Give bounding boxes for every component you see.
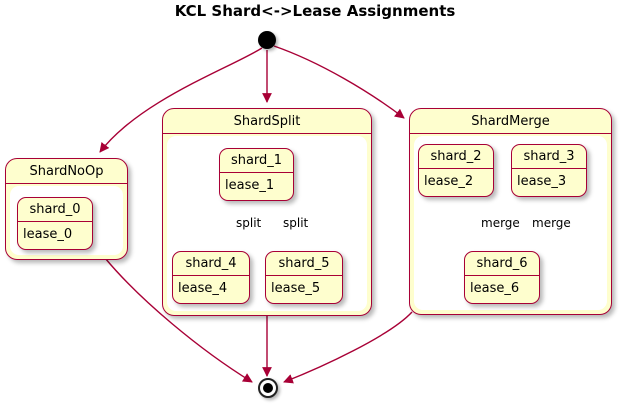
composite-title-shardsplit: ShardSplit — [163, 109, 371, 134]
state-attr-lease-3: lease_3 — [512, 169, 586, 194]
state-attr-lease-6: lease_6 — [465, 276, 539, 301]
state-attr-lease-4: lease_4 — [173, 276, 249, 301]
state-shard-5[interactable]: shard_5 lease_5 — [265, 251, 343, 304]
composite-title-shardnoop: ShardNoOp — [6, 159, 127, 184]
state-name-shard-1: shard_1 — [220, 149, 293, 173]
state-shard-3[interactable]: shard_3 lease_3 — [511, 144, 587, 197]
state-name-shard-4: shard_4 — [173, 252, 249, 276]
edge-label-split-right: split — [283, 216, 308, 230]
diagram-title: KCL Shard<->Lease Assignments — [0, 2, 630, 20]
edge-label-merge-right: merge — [532, 216, 571, 230]
state-shard-2[interactable]: shard_2 lease_2 — [418, 144, 494, 197]
composite-title-shardmerge: ShardMerge — [410, 109, 611, 134]
initial-state-node — [258, 31, 276, 49]
edge-label-split-left: split — [236, 216, 261, 230]
state-attr-lease-5: lease_5 — [266, 276, 342, 301]
state-name-shard-2: shard_2 — [419, 145, 493, 169]
state-diagram-canvas: KCL Shard<->Lease Assignments — [0, 0, 630, 405]
state-shard-4[interactable]: shard_4 lease_4 — [172, 251, 250, 304]
state-name-shard-5: shard_5 — [266, 252, 342, 276]
state-name-shard-6: shard_6 — [465, 252, 539, 276]
edge-shardmerge-to-end — [284, 312, 412, 382]
state-attr-lease-2: lease_2 — [419, 169, 493, 194]
state-shard-1[interactable]: shard_1 lease_1 — [219, 148, 294, 201]
edge-label-merge-left: merge — [481, 216, 520, 230]
final-state-inner-dot — [263, 383, 273, 393]
final-state-node — [258, 378, 278, 398]
state-shard-0[interactable]: shard_0 lease_0 — [17, 197, 93, 250]
state-shard-6[interactable]: shard_6 lease_6 — [464, 251, 540, 304]
state-name-shard-3: shard_3 — [512, 145, 586, 169]
state-attr-lease-1: lease_1 — [220, 173, 293, 198]
state-attr-lease-0: lease_0 — [18, 222, 92, 247]
state-name-shard-0: shard_0 — [18, 198, 92, 222]
